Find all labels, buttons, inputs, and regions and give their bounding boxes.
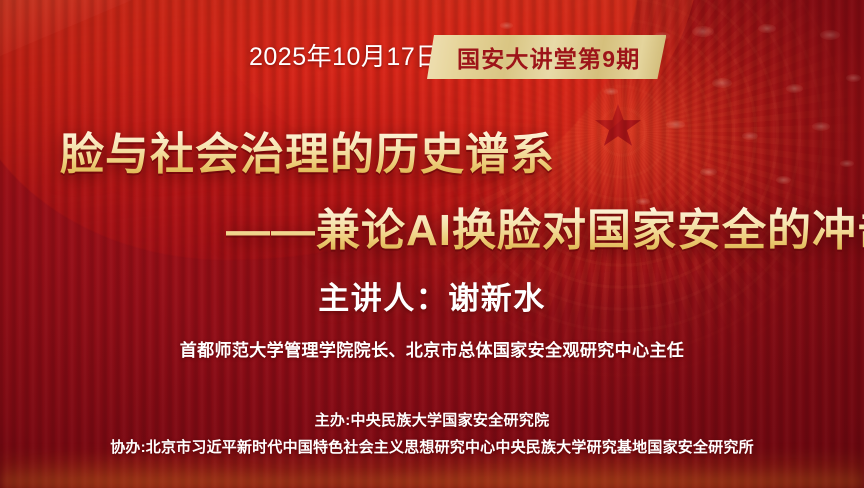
- lecture-poster: 2025年10月17日 国安大讲堂第9期 脸与社会治理的历史谱系 ——兼论AI换…: [0, 0, 864, 488]
- speaker-name: 主讲人：谢新水: [0, 273, 864, 318]
- series-tag-banner: 国安大讲堂第9期: [427, 35, 666, 79]
- organizer-co-host: 协办:北京市习近平新时代中国特色社会主义思想研究中心中央民族大学研究基地国家安全…: [0, 436, 864, 457]
- organizer-host: 主办:中央民族大学国家安全研究院: [0, 409, 864, 430]
- poster-title-line-2: ——兼论AI换脸对国家安全的冲击: [226, 194, 864, 258]
- poster-header: 2025年10月17日 国安大讲堂第9期: [0, 35, 864, 79]
- poster-title-line-1: 脸与社会治理的历史谱系: [60, 118, 555, 182]
- lecture-date: 2025年10月17日: [249, 35, 441, 79]
- speaker-affiliation: 首都师范大学管理学院院长、北京市总体国家安全观研究中心主任: [0, 336, 864, 361]
- series-tag-label: 国安大讲堂第9期: [457, 40, 640, 74]
- poster-content: 2025年10月17日 国安大讲堂第9期 脸与社会治理的历史谱系 ——兼论AI换…: [0, 0, 864, 488]
